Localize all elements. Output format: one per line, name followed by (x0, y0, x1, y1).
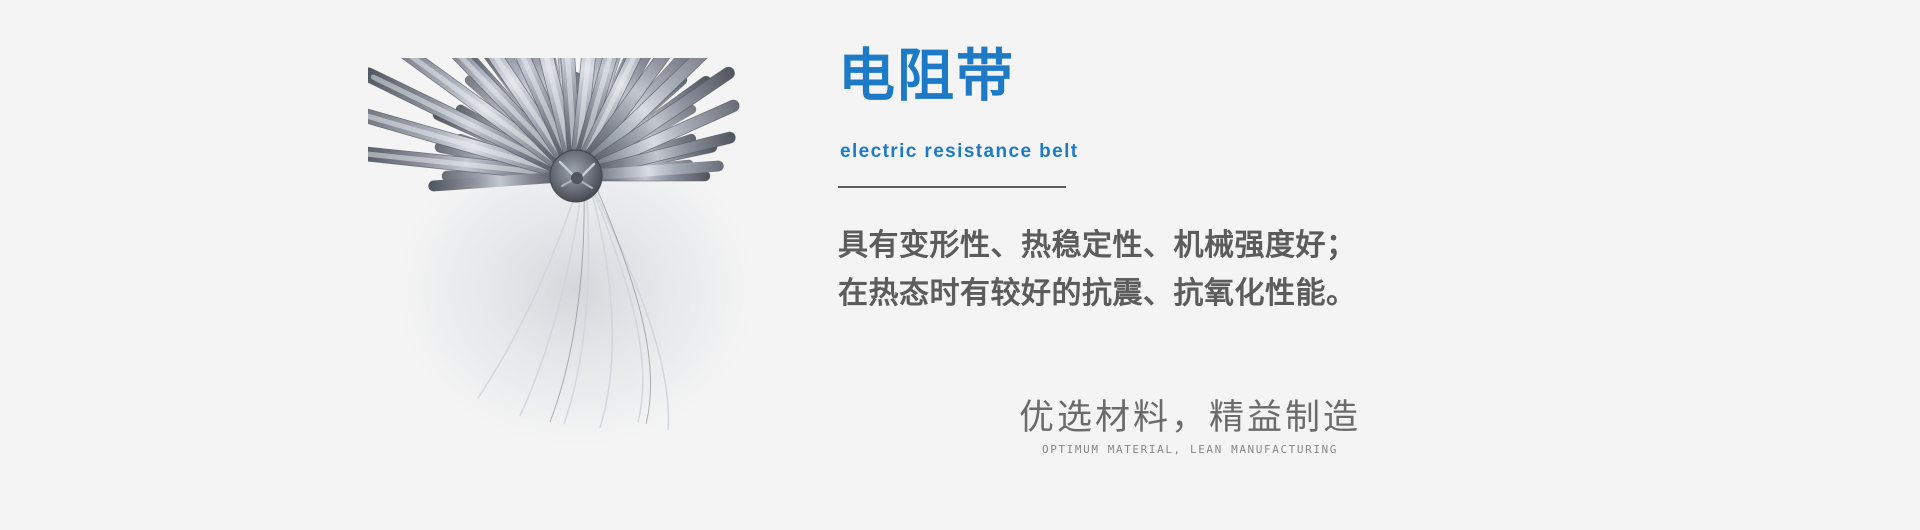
description-line-2: 在热态时有较好的抗震、抗氧化性能。 (838, 270, 1478, 318)
tagline-english: OPTIMUM MATERIAL, LEAN MANUFACTURING (950, 442, 1430, 457)
resistance-belt-coil-illustration (368, 58, 788, 458)
page-title: 电阻带 (838, 44, 1015, 108)
product-banner: 电阻带 electric resistance belt 具有变形性、热稳定性、… (0, 0, 1920, 530)
tagline-chinese: 优选材料，精益制造 (950, 396, 1430, 440)
description-line-1: 具有变形性、热稳定性、机械强度好； (838, 222, 1478, 270)
banner-text-column: 电阻带 electric resistance belt 具有变形性、热稳定性、… (838, 0, 1838, 530)
brand-tagline: 优选材料，精益制造 OPTIMUM MATERIAL, LEAN MANUFAC… (950, 396, 1430, 457)
product-description: 具有变形性、热稳定性、机械强度好； 在热态时有较好的抗震、抗氧化性能。 (838, 222, 1478, 318)
title-divider (838, 186, 1066, 188)
page-subtitle: electric resistance belt (840, 140, 1079, 164)
product-image (368, 58, 788, 458)
